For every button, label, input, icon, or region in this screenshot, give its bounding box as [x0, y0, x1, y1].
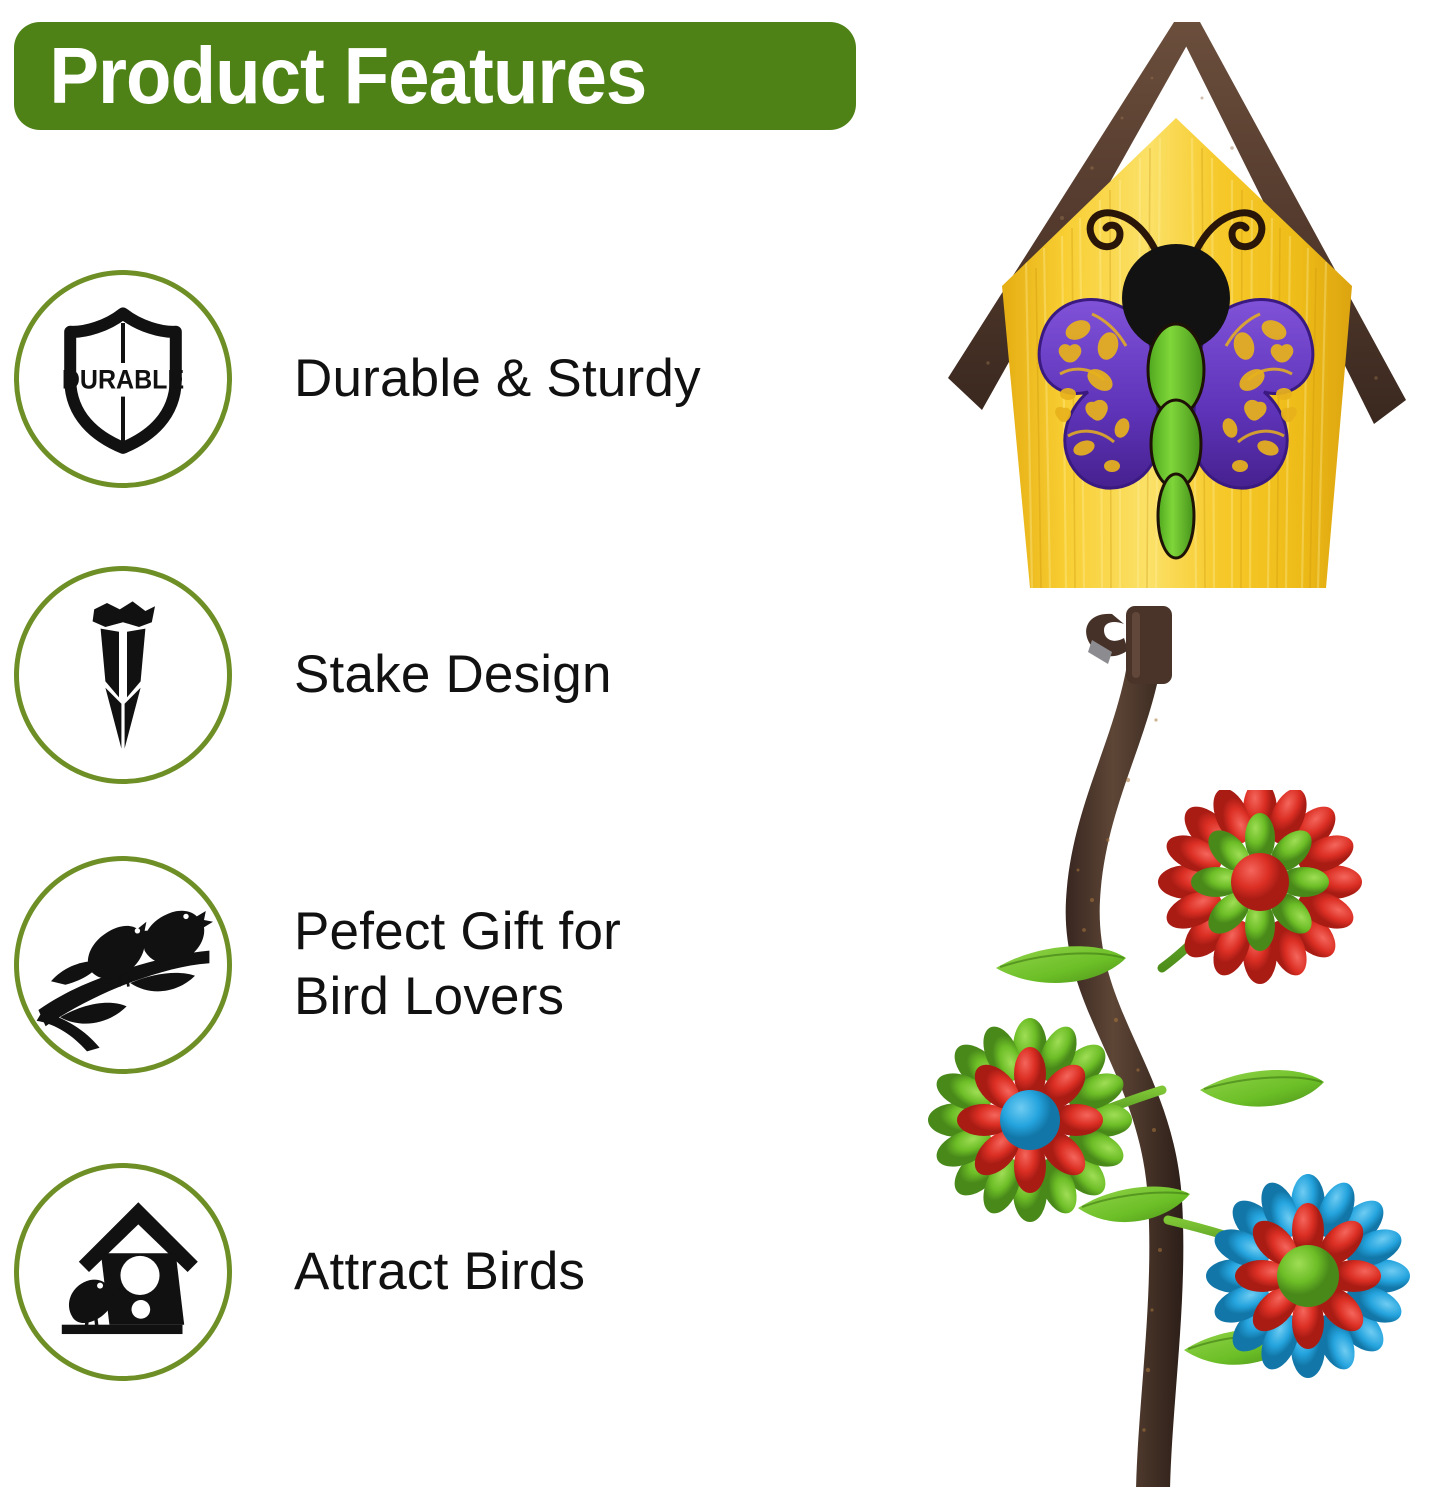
product-image — [900, 0, 1445, 1487]
leaf — [1200, 1070, 1324, 1107]
flower-center — [1000, 1090, 1060, 1150]
feature-item-gift: Pefect Gift for Bird Lovers — [14, 856, 874, 1074]
flower-center — [1277, 1245, 1339, 1307]
ground-stake-icon — [43, 595, 203, 755]
birdhouse-front-panel — [996, 118, 1356, 628]
two-birds-on-branch-icon — [33, 875, 213, 1055]
flower-middle-left — [928, 1018, 1132, 1222]
feature-icon-circle — [14, 566, 232, 784]
leaf — [996, 946, 1126, 983]
birdhouse-with-bird-icon — [38, 1187, 208, 1357]
feature-item-stake: Stake Design — [14, 566, 874, 784]
flower-cluster — [900, 790, 1445, 1430]
page-title-banner: Product Features — [14, 22, 856, 130]
feature-label: Pefect Gift for Bird Lovers — [294, 900, 621, 1029]
feature-label: Stake Design — [294, 643, 612, 708]
feature-icon-circle — [14, 1163, 232, 1381]
feature-label: Attract Birds — [294, 1240, 585, 1305]
shield-durable-icon: DURABLE — [43, 299, 203, 459]
flower-bottom-right — [1206, 1174, 1410, 1378]
feature-item-attract: Attract Birds — [14, 1163, 874, 1381]
page-title: Product Features — [14, 36, 646, 116]
shield-icon-text: DURABLE — [62, 364, 184, 395]
feature-label: Durable & Sturdy — [294, 347, 701, 412]
flower-center — [1231, 853, 1289, 911]
feature-icon-circle: DURABLE — [14, 270, 232, 488]
flower-top-right — [1158, 790, 1362, 984]
feature-list: DURABLE Durable & Sturdy Stake Design — [0, 248, 880, 1428]
feature-icon-circle — [14, 856, 232, 1074]
feature-item-durable: DURABLE Durable & Sturdy — [14, 270, 874, 488]
